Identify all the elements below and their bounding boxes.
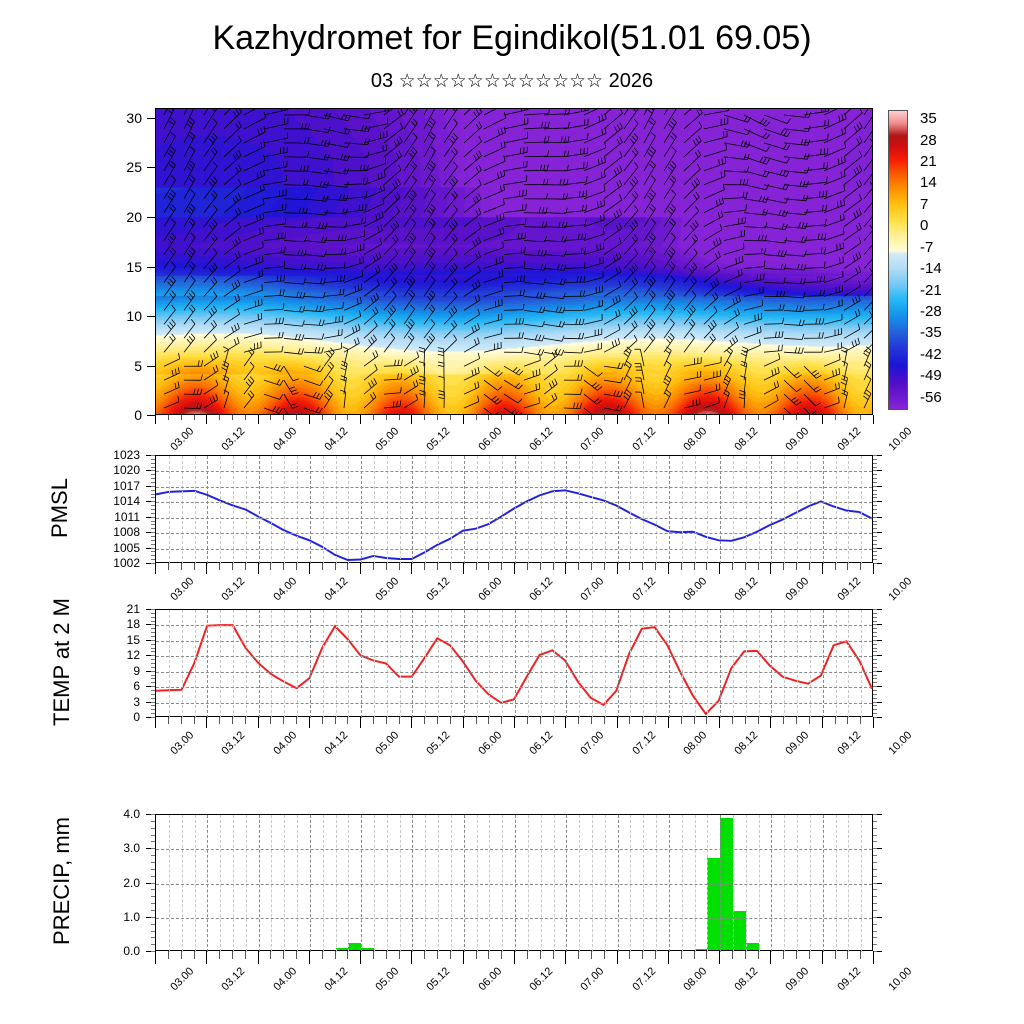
axis-tick xyxy=(309,415,310,424)
axis-tick-label: 06.12 xyxy=(528,966,555,993)
axis-tick xyxy=(873,528,877,529)
axis-tick xyxy=(873,501,877,502)
axis-tick xyxy=(796,563,797,570)
axis-tick xyxy=(873,521,877,522)
axis-tick xyxy=(681,563,682,570)
axis-tick xyxy=(873,869,877,870)
figure-subtitle: 03 ☆☆☆☆☆☆☆☆☆☆☆☆ 2026 xyxy=(0,68,1024,95)
gridline xyxy=(156,849,872,850)
axis-tick xyxy=(604,951,605,959)
axis-tick xyxy=(360,717,361,728)
axis-tick xyxy=(732,951,733,959)
axis-tick-label: 1011 xyxy=(108,511,140,523)
axis-tick xyxy=(151,903,155,904)
axis-tick xyxy=(424,563,425,570)
axis-tick xyxy=(873,702,877,703)
axis-tick xyxy=(873,876,877,877)
axis-tick xyxy=(347,415,348,420)
axis-tick xyxy=(873,821,877,822)
axis-tick-label: 04.00 xyxy=(272,966,299,993)
axis-tick xyxy=(604,717,605,724)
axis-tick-label: 06.00 xyxy=(477,730,504,757)
axis-tick xyxy=(719,717,720,728)
axis-tick-label: 21 xyxy=(120,603,140,615)
axis-tick xyxy=(151,937,155,938)
axis-tick xyxy=(168,717,169,724)
axis-tick xyxy=(151,709,155,710)
axis-tick xyxy=(411,717,412,728)
gridline xyxy=(156,518,872,519)
axis-tick xyxy=(873,559,877,560)
axis-tick xyxy=(476,951,477,959)
temperature-panel xyxy=(155,609,873,717)
axis-tick xyxy=(873,682,877,683)
axis-tick xyxy=(399,717,400,724)
axis-tick-label: 03.12 xyxy=(220,426,247,453)
cross-section-panel xyxy=(155,108,873,415)
axis-tick-label: 06.12 xyxy=(528,426,555,453)
gridline xyxy=(156,549,872,550)
axis-tick xyxy=(373,951,374,959)
axis-tick xyxy=(151,835,155,836)
axis-tick-label: 09.12 xyxy=(836,730,863,757)
axis-tick xyxy=(527,415,528,420)
axis-tick xyxy=(151,624,155,625)
axis-tick xyxy=(181,563,182,570)
axis-tick xyxy=(232,415,233,420)
axis-tick xyxy=(245,563,246,570)
axis-tick xyxy=(424,951,425,959)
axis-tick xyxy=(796,415,797,420)
axis-tick-label: 07.12 xyxy=(631,576,658,603)
axis-tick xyxy=(745,717,746,724)
axis-tick xyxy=(835,717,836,724)
cross-section-plot xyxy=(156,109,872,414)
axis-tick xyxy=(411,951,412,964)
axis-tick xyxy=(463,717,464,728)
axis-tick xyxy=(694,717,695,724)
axis-tick xyxy=(335,563,336,570)
axis-tick-label: 04.12 xyxy=(323,576,350,603)
axis-tick xyxy=(151,651,155,652)
axis-tick xyxy=(745,415,746,420)
axis-tick xyxy=(873,659,877,660)
axis-tick xyxy=(617,717,618,728)
axis-tick xyxy=(151,682,155,683)
axis-tick xyxy=(873,544,877,545)
precipitation-panel xyxy=(155,814,873,951)
axis-tick xyxy=(206,951,207,964)
axis-tick xyxy=(296,717,297,724)
colorbar-tick-label: -21 xyxy=(920,283,942,298)
axis-tick xyxy=(873,470,877,471)
axis-tick xyxy=(322,717,323,724)
axis-tick xyxy=(591,951,592,959)
axis-tick xyxy=(206,563,207,574)
axis-tick xyxy=(151,883,155,884)
axis-tick xyxy=(642,951,643,959)
axis-tick xyxy=(232,563,233,570)
axis-tick xyxy=(399,563,400,570)
axis-tick xyxy=(591,563,592,570)
axis-tick xyxy=(151,678,155,679)
axis-tick-label: 09.12 xyxy=(836,426,863,453)
axis-tick-label: 04.12 xyxy=(323,966,350,993)
axis-tick xyxy=(873,675,877,676)
axis-tick-label: 05.00 xyxy=(374,730,401,757)
axis-tick xyxy=(151,828,155,829)
axis-tick xyxy=(232,717,233,724)
axis-tick xyxy=(822,415,823,424)
axis-tick xyxy=(270,717,271,724)
axis-tick-label: 05.12 xyxy=(425,966,452,993)
axis-tick xyxy=(373,563,374,570)
axis-tick xyxy=(181,415,182,420)
axis-tick xyxy=(206,717,207,728)
axis-tick xyxy=(219,415,220,420)
axis-tick-label: 6 xyxy=(120,680,140,692)
axis-tick xyxy=(694,415,695,420)
axis-tick-label: 09.00 xyxy=(784,730,811,757)
axis-tick-label: 1008 xyxy=(108,526,140,538)
axis-tick-label: 15 xyxy=(108,260,142,274)
axis-tick-label: 03.12 xyxy=(220,576,247,603)
gridline xyxy=(156,625,872,626)
axis-tick xyxy=(681,415,682,420)
axis-tick-label: 1020 xyxy=(108,464,140,476)
axis-tick xyxy=(873,944,877,945)
precipitation-bar xyxy=(361,948,374,950)
axis-tick-label: 06.00 xyxy=(477,966,504,993)
axis-tick xyxy=(873,931,877,932)
axis-tick-label: 08.00 xyxy=(682,966,709,993)
axis-tick xyxy=(873,848,877,849)
axis-tick xyxy=(450,951,451,959)
axis-tick xyxy=(373,415,374,420)
axis-tick-label: 04.12 xyxy=(323,730,350,757)
axis-tick xyxy=(151,667,155,668)
axis-tick xyxy=(206,415,207,424)
axis-tick xyxy=(809,951,810,959)
axis-tick-label: 08.00 xyxy=(682,426,709,453)
axis-tick-label: 09.00 xyxy=(784,576,811,603)
axis-tick xyxy=(309,563,310,574)
axis-tick xyxy=(706,951,707,959)
axis-tick xyxy=(147,366,155,367)
axis-tick xyxy=(155,717,156,728)
axis-tick xyxy=(151,497,155,498)
colorbar-gradient xyxy=(889,111,907,409)
axis-tick-label: 05.00 xyxy=(374,426,401,453)
axis-tick xyxy=(847,717,848,724)
axis-tick xyxy=(151,869,155,870)
axis-tick xyxy=(873,678,877,679)
axis-tick xyxy=(151,896,155,897)
axis-tick xyxy=(578,951,579,959)
axis-tick-label: 3.0 xyxy=(110,842,140,854)
axis-tick xyxy=(232,951,233,959)
axis-tick xyxy=(347,563,348,570)
axis-tick xyxy=(578,415,579,420)
colorbar-tick-label: -49 xyxy=(920,368,942,383)
axis-tick-label: 18 xyxy=(120,618,140,630)
temperature-axis-title: TEMP at 2 M xyxy=(49,557,75,767)
axis-tick xyxy=(151,528,155,529)
axis-tick xyxy=(809,563,810,570)
axis-tick-label: 20 xyxy=(108,210,142,224)
axis-tick xyxy=(873,841,877,842)
precipitation-bar xyxy=(707,858,720,951)
axis-tick xyxy=(373,717,374,724)
axis-tick-label: 5 xyxy=(108,359,142,373)
axis-tick xyxy=(873,917,877,918)
axis-tick xyxy=(488,563,489,570)
axis-tick xyxy=(151,459,155,460)
axis-tick xyxy=(873,855,877,856)
axis-tick-label: 08.12 xyxy=(733,576,760,603)
axis-tick xyxy=(873,903,877,904)
gridline xyxy=(156,672,872,673)
axis-tick xyxy=(796,717,797,724)
axis-tick xyxy=(283,563,284,570)
axis-tick xyxy=(745,951,746,959)
axis-tick xyxy=(553,717,554,724)
axis-tick xyxy=(219,951,220,959)
axis-tick-label: 9 xyxy=(120,665,140,677)
axis-tick xyxy=(655,951,656,959)
axis-tick xyxy=(151,555,155,556)
axis-tick xyxy=(151,655,155,656)
subtitle-month: ☆☆☆☆☆☆☆☆☆☆☆☆ xyxy=(399,71,603,92)
axis-tick xyxy=(629,415,630,420)
axis-tick xyxy=(527,951,528,959)
axis-tick xyxy=(151,548,155,549)
axis-tick xyxy=(822,717,823,728)
axis-tick-label: 06.12 xyxy=(528,730,555,757)
subtitle-day: 03 xyxy=(371,70,393,92)
axis-tick xyxy=(822,563,823,574)
axis-tick xyxy=(476,717,477,724)
axis-tick xyxy=(151,628,155,629)
axis-tick xyxy=(501,563,502,570)
axis-tick xyxy=(873,862,877,863)
axis-tick xyxy=(424,717,425,724)
axis-tick xyxy=(681,951,682,959)
axis-tick xyxy=(873,889,877,890)
axis-tick xyxy=(476,415,477,420)
axis-tick xyxy=(809,415,810,420)
axis-tick-label: 04.12 xyxy=(323,426,350,453)
axis-tick xyxy=(873,910,877,911)
axis-tick xyxy=(501,717,502,724)
axis-tick xyxy=(540,717,541,724)
axis-tick xyxy=(668,563,669,574)
axis-tick-label: 03.00 xyxy=(169,966,196,993)
axis-tick-label: 1.0 xyxy=(110,911,140,923)
axis-tick xyxy=(578,717,579,724)
axis-tick-label: 03.00 xyxy=(169,730,196,757)
axis-tick xyxy=(873,883,877,884)
colorbar-tick-label: -14 xyxy=(920,261,942,276)
gridline xyxy=(156,533,872,534)
axis-tick xyxy=(151,663,155,664)
axis-tick xyxy=(147,167,155,168)
page-title: Kazhydromet for Egindikol(51.01 69.05) xyxy=(0,18,1024,58)
axis-tick xyxy=(540,415,541,420)
axis-tick xyxy=(437,951,438,959)
axis-tick-label: 4.0 xyxy=(110,808,140,820)
axis-tick xyxy=(335,717,336,724)
axis-tick xyxy=(151,917,155,918)
colorbar-tick-label: -56 xyxy=(920,390,942,405)
axis-tick xyxy=(347,951,348,959)
precipitation-bar xyxy=(336,948,349,950)
axis-tick xyxy=(514,415,515,424)
axis-tick-label: 09.12 xyxy=(836,576,863,603)
axis-tick-label: 3 xyxy=(120,696,140,708)
axis-tick xyxy=(151,841,155,842)
axis-tick xyxy=(155,415,156,424)
pmsl-panel xyxy=(155,455,873,563)
axis-tick-label: 10.00 xyxy=(887,426,914,453)
axis-tick xyxy=(873,551,877,552)
axis-tick-label: 05.12 xyxy=(425,426,452,453)
axis-tick-label: 09.12 xyxy=(836,966,863,993)
axis-tick xyxy=(151,540,155,541)
axis-tick xyxy=(732,563,733,570)
colorbar-tick-label: -28 xyxy=(920,304,942,319)
axis-tick xyxy=(873,497,877,498)
axis-tick xyxy=(629,717,630,724)
axis-tick xyxy=(873,632,877,633)
axis-tick-label: 08.00 xyxy=(682,730,709,757)
gridline xyxy=(156,502,872,503)
axis-tick xyxy=(283,951,284,959)
axis-tick-label: 10 xyxy=(108,309,142,323)
figure-root: Kazhydromet for Egindikol(51.01 69.05) 0… xyxy=(0,0,1024,1024)
axis-tick xyxy=(488,415,489,420)
axis-tick xyxy=(758,563,759,570)
axis-tick xyxy=(283,717,284,724)
axis-tick xyxy=(151,505,155,506)
axis-tick xyxy=(151,694,155,695)
colorbar-tick-label: 35 xyxy=(920,111,937,126)
axis-tick xyxy=(296,415,297,420)
axis-tick-label: 05.12 xyxy=(425,730,452,757)
axis-tick xyxy=(655,563,656,570)
axis-tick xyxy=(151,517,155,518)
axis-tick xyxy=(527,717,528,724)
axis-tick xyxy=(168,563,169,570)
gridline xyxy=(156,471,872,472)
axis-tick xyxy=(822,951,823,964)
axis-tick xyxy=(411,563,412,574)
axis-tick xyxy=(873,835,877,836)
axis-tick xyxy=(450,717,451,724)
axis-tick-label: 07.12 xyxy=(631,426,658,453)
axis-tick xyxy=(873,671,877,672)
axis-tick xyxy=(151,931,155,932)
axis-tick xyxy=(168,415,169,420)
gridline xyxy=(156,656,872,657)
axis-tick xyxy=(873,705,877,706)
axis-tick xyxy=(151,659,155,660)
axis-tick xyxy=(873,490,877,491)
axis-tick xyxy=(147,118,155,119)
axis-tick xyxy=(151,470,155,471)
axis-tick xyxy=(151,521,155,522)
axis-tick-label: 08.12 xyxy=(733,966,760,993)
axis-tick xyxy=(399,415,400,420)
axis-tick-label: 30 xyxy=(108,111,142,125)
axis-tick xyxy=(565,415,566,424)
axis-tick xyxy=(873,655,877,656)
axis-tick-label: 1017 xyxy=(108,480,140,492)
axis-tick xyxy=(151,551,155,552)
axis-tick xyxy=(719,415,720,424)
axis-tick xyxy=(873,474,877,475)
axis-tick xyxy=(488,717,489,724)
axis-tick-label: 10.00 xyxy=(887,576,914,603)
axis-tick xyxy=(553,415,554,420)
gridline xyxy=(156,487,872,488)
axis-tick xyxy=(245,415,246,420)
axis-tick-label: 1023 xyxy=(108,449,140,461)
axis-tick xyxy=(553,951,554,959)
axis-tick xyxy=(565,951,566,964)
colorbar-tick-label: -7 xyxy=(920,240,933,255)
axis-tick-label: 08.00 xyxy=(682,576,709,603)
axis-tick xyxy=(604,415,605,420)
gridline xyxy=(156,641,872,642)
axis-tick xyxy=(565,717,566,728)
axis-tick xyxy=(604,563,605,570)
colorbar-tick-label: -35 xyxy=(920,325,942,340)
axis-tick-label: 05.00 xyxy=(374,576,401,603)
axis-tick xyxy=(151,671,155,672)
axis-tick xyxy=(873,663,877,664)
axis-tick xyxy=(437,717,438,724)
axis-tick xyxy=(151,862,155,863)
axis-tick xyxy=(514,717,515,728)
axis-tick xyxy=(873,540,877,541)
axis-tick xyxy=(706,563,707,570)
axis-tick xyxy=(270,951,271,959)
axis-tick xyxy=(642,717,643,724)
axis-tick xyxy=(578,563,579,570)
axis-tick-label: 06.00 xyxy=(477,576,504,603)
precipitation-axis-title: PRECIP, mm xyxy=(49,761,75,1001)
axis-tick xyxy=(181,717,182,724)
axis-tick xyxy=(873,455,877,456)
axis-tick xyxy=(155,563,156,574)
axis-tick xyxy=(783,415,784,420)
axis-tick-label: 10.00 xyxy=(887,730,914,757)
axis-tick xyxy=(219,563,220,570)
axis-tick-label: 06.00 xyxy=(477,426,504,453)
axis-tick xyxy=(719,563,720,574)
axis-tick xyxy=(873,482,877,483)
axis-tick xyxy=(706,415,707,420)
axis-tick xyxy=(151,855,155,856)
axis-tick xyxy=(873,613,877,614)
axis-tick xyxy=(617,951,618,964)
axis-tick-label: 09.00 xyxy=(784,426,811,453)
axis-tick xyxy=(796,951,797,959)
axis-tick-label: 15 xyxy=(120,634,140,646)
axis-tick xyxy=(386,951,387,959)
axis-tick xyxy=(873,463,877,464)
